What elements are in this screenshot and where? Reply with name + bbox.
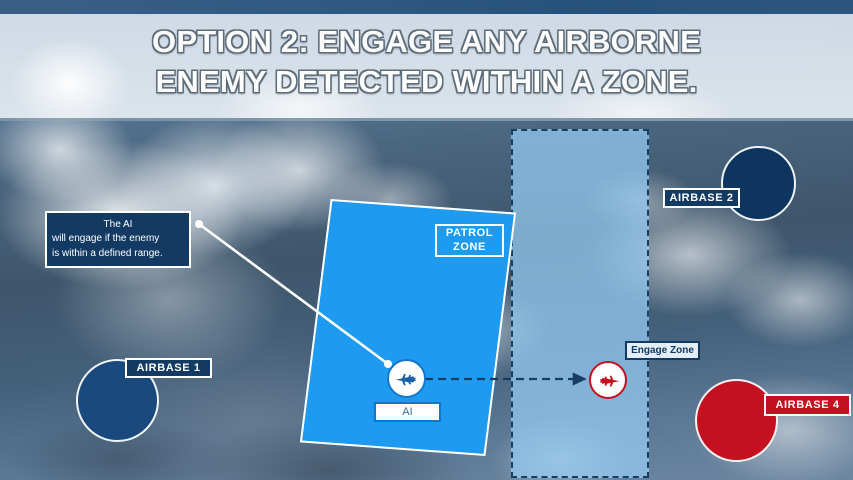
- enemy-aircraft-marker[interactable]: [589, 361, 627, 399]
- callout-line-1: The AI: [104, 218, 133, 233]
- engage-zone-rectangle[interactable]: [511, 129, 649, 478]
- airbase-1-label[interactable]: AIRBASE 1: [125, 358, 212, 378]
- patrol-zone-label-line-2: ZONE: [453, 241, 486, 255]
- ai-aircraft-marker[interactable]: [387, 359, 426, 398]
- ai-aircraft-label[interactable]: AI: [374, 402, 441, 422]
- airbase-2-label[interactable]: AIRBASE 2: [663, 188, 740, 208]
- patrol-zone-label-line-1: PATROL: [446, 227, 493, 241]
- ai-range-callout: The AI will engage if the enemy is withi…: [45, 211, 191, 268]
- page-title: OPTION 2: ENGAGE ANY AIRBORNE ENEMY DETE…: [0, 22, 853, 101]
- fighter-jet-icon: [394, 366, 420, 392]
- callout-line-3: is within a defined range.: [52, 247, 163, 262]
- page-title-line-1: OPTION 2: ENGAGE ANY AIRBORNE: [0, 22, 853, 62]
- banner-bottom-rule: [0, 118, 853, 121]
- airbase-2-circle[interactable]: [721, 146, 796, 221]
- fighter-jet-icon: [596, 368, 621, 393]
- airbase-4-circle[interactable]: [695, 379, 778, 462]
- top-accent-bar: [0, 0, 853, 14]
- engage-zone-label[interactable]: Engage Zone: [625, 341, 700, 360]
- patrol-zone-label[interactable]: PATROL ZONE: [435, 224, 504, 257]
- airbase-4-label[interactable]: AIRBASE 4: [764, 394, 851, 416]
- page-title-line-2: ENEMY DETECTED WITHIN A ZONE.: [0, 62, 853, 102]
- presentation-slide: OPTION 2: ENGAGE ANY AIRBORNE ENEMY DETE…: [0, 0, 853, 480]
- callout-line-2: will engage if the enemy: [52, 232, 159, 247]
